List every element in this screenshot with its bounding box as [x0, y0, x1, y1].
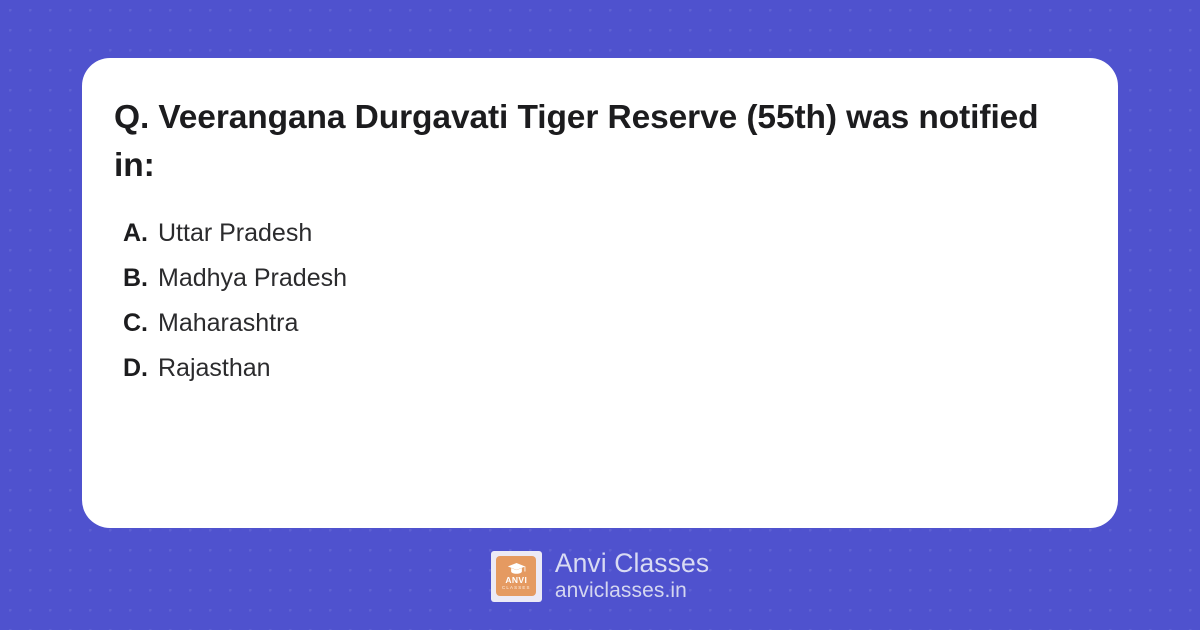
option-letter-d: D.	[123, 346, 150, 391]
quiz-slide-canvas: Q. Veerangana Durgavati Tiger Reserve (5…	[0, 0, 1200, 630]
question-text: Q. Veerangana Durgavati Tiger Reserve (5…	[114, 94, 1044, 189]
graduation-cap-icon	[507, 562, 526, 575]
brand-logo-subtitle: CLASSES	[502, 585, 531, 591]
brand-url[interactable]: anviclasses.in	[555, 578, 709, 604]
brand-logo-tile: ANVI CLASSES	[496, 556, 536, 596]
option-text-a: Uttar Pradesh	[158, 211, 312, 256]
option-letter-a: A.	[123, 211, 150, 256]
option-row-c[interactable]: C. Maharashtra	[114, 301, 1084, 346]
option-row-b[interactable]: B. Madhya Pradesh	[114, 256, 1084, 301]
brand-logo-name: ANVI	[505, 576, 527, 585]
option-row-d[interactable]: D. Rajasthan	[114, 346, 1084, 391]
option-row-a[interactable]: A. Uttar Pradesh	[114, 211, 1084, 256]
brand-logo: ANVI CLASSES	[491, 551, 542, 602]
options-list: A. Uttar Pradesh B. Madhya Pradesh C. Ma…	[114, 211, 1084, 391]
option-text-c: Maharashtra	[158, 301, 298, 346]
option-text-d: Rajasthan	[158, 346, 271, 391]
question-card: Q. Veerangana Durgavati Tiger Reserve (5…	[82, 58, 1118, 528]
brand-text-block: Anvi Classes anviclasses.in	[555, 548, 709, 604]
footer-branding: ANVI CLASSES Anvi Classes anviclasses.in	[0, 545, 1200, 607]
brand-title: Anvi Classes	[555, 548, 709, 578]
option-text-b: Madhya Pradesh	[158, 256, 347, 301]
option-letter-b: B.	[123, 256, 150, 301]
option-letter-c: C.	[123, 301, 150, 346]
